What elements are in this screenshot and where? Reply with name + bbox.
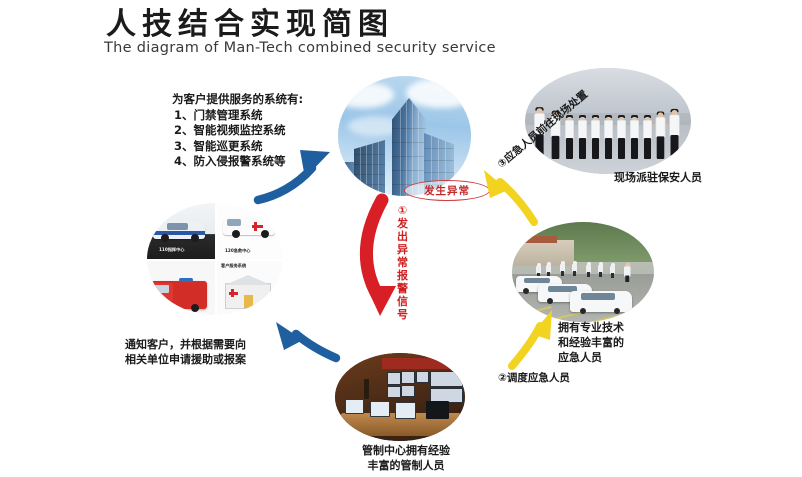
cloud-shape (406, 78, 471, 108)
fire-truck (151, 281, 207, 309)
arrow-blue-to-vehicles (276, 322, 336, 358)
caption-control-center: 管制中心拥有经验 丰富的管制人员 (344, 443, 468, 473)
police-car (153, 222, 205, 239)
desk-screen-dark (426, 401, 449, 419)
label-service-system: 客户服务系统 (221, 263, 246, 269)
wall-monitor (401, 371, 415, 384)
red-roof (515, 236, 558, 243)
caption-emergency-staff: 拥有专业技术 和经验丰富的 应急人员 (558, 320, 624, 365)
wall-monitor (401, 385, 415, 398)
label-police-hotline: 110指挥中心 (159, 247, 185, 253)
desk-screen (370, 401, 390, 417)
step1-label: ①发出异常报警信号 (396, 204, 409, 321)
quadrant-ambulance: 120急救中心 (215, 203, 283, 259)
wall-monitor (387, 372, 401, 385)
systems-list-item: 3、智能巡更系统 (172, 139, 303, 155)
arrow-red-alarm-signal (366, 200, 396, 316)
building-left (354, 140, 385, 196)
step2-label: ②调度应急人员 (498, 371, 570, 386)
wall-monitor-large (430, 371, 463, 387)
wall-monitor (387, 386, 401, 399)
photo-control-center (335, 353, 465, 441)
city-backdrop (525, 68, 691, 113)
systems-list-heading: 为客户提供服务的系统有: (172, 92, 303, 108)
systems-list-item: 4、防入侵报警系统等 (172, 154, 303, 170)
page-subtitle-english: The diagram of Man-Tech combined securit… (104, 40, 496, 56)
caption-guards: 现场派驻保安人员 (598, 170, 718, 185)
alarm-badge: 发生异常 (404, 180, 490, 201)
desk-screen (395, 402, 417, 419)
photo-client-buildings (338, 76, 471, 196)
collage-divider-horizontal (147, 259, 283, 261)
photo-emergency-services: 110指挥中心 120急救中心 客户服务系统 (147, 203, 283, 315)
photo-patrol-cars (512, 222, 654, 322)
caption-notify-client: 通知客户，并根据需要向 相关单位申请援助或报案 (125, 337, 246, 367)
service-building (225, 283, 271, 309)
systems-list-item: 1、门禁管理系统 (172, 108, 303, 124)
systems-list: 为客户提供服务的系统有: 1、门禁管理系统 2、智能视频监控系统 3、智能巡更系… (172, 92, 303, 170)
quadrant-police: 110指挥中心 (147, 203, 215, 259)
diagram-canvas: 人技结合实现简图 The diagram of Man-Tech combine… (0, 0, 802, 477)
wall-column (364, 379, 369, 398)
red-wall-band (382, 358, 465, 369)
quadrant-service-center: 客户服务系统 (215, 259, 283, 315)
building-wall (512, 240, 574, 266)
patrol-car (570, 291, 632, 312)
ambulance (223, 217, 275, 235)
label-ambulance-hotline: 120急救中心 (225, 248, 251, 254)
wall-monitor (416, 371, 430, 384)
wall-monitor-large (430, 388, 463, 402)
quadrant-fire-truck (147, 259, 215, 315)
page-title-chinese: 人技结合实现简图 (106, 6, 394, 44)
desk-screen (345, 399, 364, 414)
arrow-yellow-to-site (484, 170, 534, 222)
systems-list-item: 2、智能视频监控系统 (172, 123, 303, 139)
